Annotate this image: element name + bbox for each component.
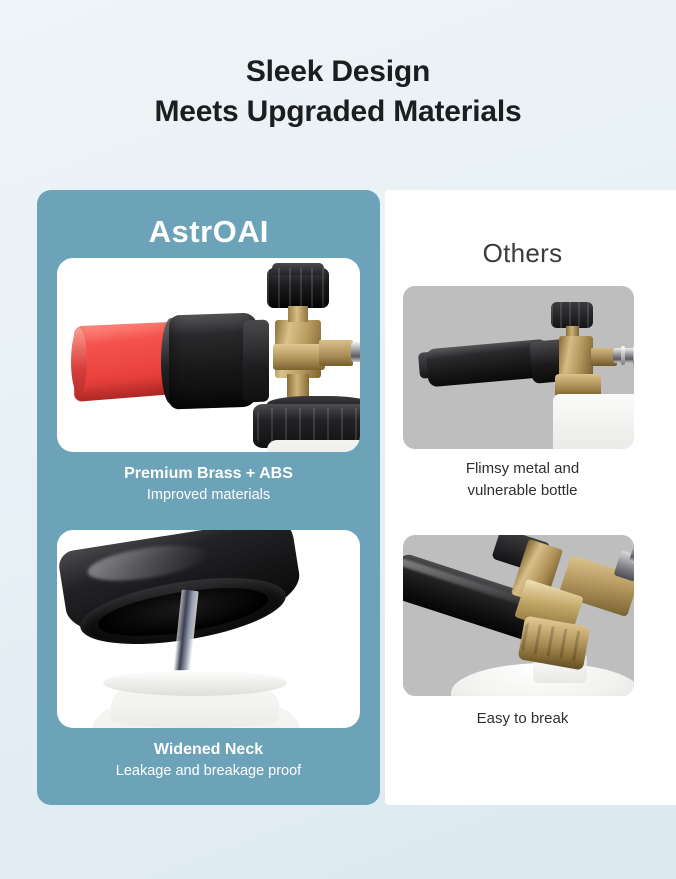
- red-nozzle-cone: [74, 322, 173, 402]
- astroai-caption-1: Premium Brass + ABS Improved materials: [37, 462, 380, 507]
- page-title: Sleek Design Meets Upgraded Materials: [0, 52, 676, 131]
- others-caption-1-line2: vulnerable bottle: [385, 480, 660, 502]
- others-caption-2: Easy to break: [385, 708, 660, 730]
- page-title-line1: Sleek Design: [246, 55, 430, 88]
- brand-logo-text-ai: AI: [237, 214, 268, 249]
- black-barrel-face: [243, 320, 269, 403]
- competitor-white-bottle: [553, 394, 634, 449]
- chrome-quick-connect: [351, 342, 360, 362]
- astroai-caption-2-title: Widened Neck: [37, 738, 380, 761]
- others-caption-1-line1: Flimsy metal and: [385, 458, 660, 480]
- astroai-caption-2-subtitle: Leakage and breakage proof: [37, 761, 380, 783]
- bottle-neck-lip: [103, 670, 287, 696]
- astroai-feature-image-2: [57, 530, 360, 728]
- astroai-caption-2: Widened Neck Leakage and breakage proof: [37, 738, 380, 783]
- brass-side-port: [319, 340, 353, 366]
- competitor-chrome-ring-1: [621, 346, 625, 365]
- infographic-stage: Sleek Design Meets Upgraded Materials As…: [0, 0, 676, 879]
- others-feature-image-2: [403, 535, 634, 696]
- brand-logo-text-primary: AstrO: [149, 214, 238, 249]
- others-panel: Others Flimsy metal and vulnerable bottl…: [385, 190, 676, 805]
- page-title-line2: Meets Upgraded Materials: [0, 92, 676, 132]
- astroai-caption-1-title: Premium Brass + ABS: [37, 462, 380, 485]
- others-caption-2-line1: Easy to break: [385, 708, 660, 730]
- astroai-feature-image-1: [57, 258, 360, 452]
- astroai-panel: AstrOAI Premium Brass + ABS: [37, 190, 380, 805]
- brand-logo: AstrOAI: [37, 216, 380, 247]
- competitor-knob-ridges: [551, 302, 593, 328]
- others-title: Others: [385, 238, 660, 269]
- astroai-caption-1-subtitle: Improved materials: [37, 485, 380, 507]
- competitor-chrome-ring-2: [633, 346, 634, 365]
- competitor-brass-body: [559, 336, 593, 378]
- others-feature-image-1: [403, 286, 634, 449]
- knob-brass-stem: [288, 306, 308, 322]
- white-bottle: [267, 440, 360, 452]
- adjustment-knob-ridges: [267, 268, 329, 308]
- brass-hex-nut: [273, 344, 325, 370]
- others-caption-1: Flimsy metal and vulnerable bottle: [385, 458, 660, 502]
